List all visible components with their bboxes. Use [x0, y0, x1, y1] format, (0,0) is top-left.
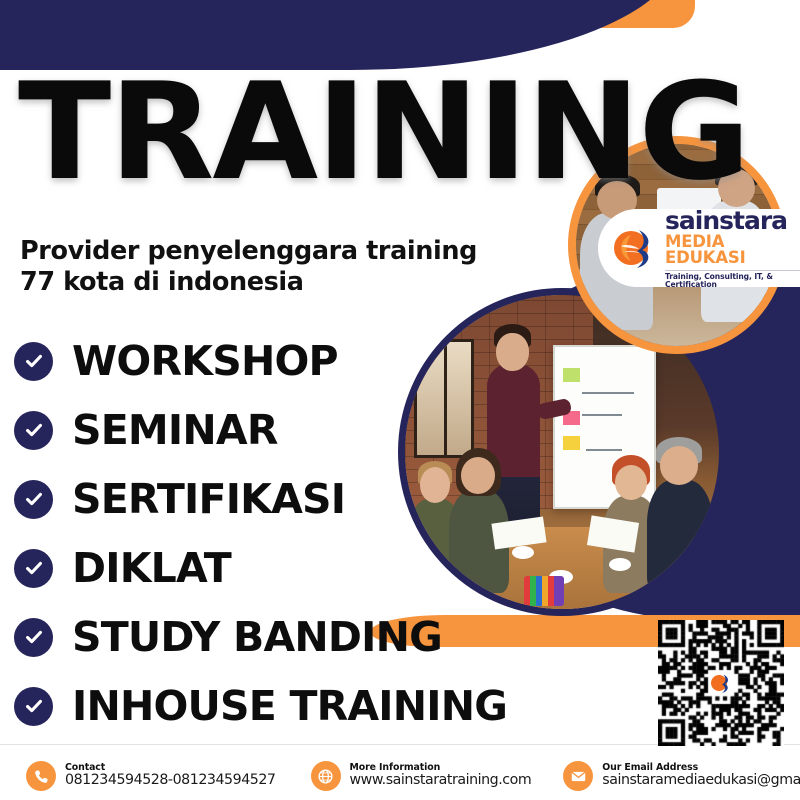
service-label: INHOUSE TRAINING [72, 682, 507, 730]
list-item: WORKSHOP [14, 330, 507, 392]
footer-item-contact[interactable]: Contact 081234594528-081234594527 [26, 761, 276, 791]
footer-contact-bar: Contact 081234594528-081234594527 More I… [0, 752, 800, 800]
service-label: DIKLAT [72, 544, 231, 592]
service-label: SERTIFIKASI [72, 475, 345, 523]
training-poster: TRAINING Provider penyelenggara training… [0, 0, 800, 800]
footer-email-value: sainstaramediaedukasi@gmail.com [602, 773, 800, 789]
qr-code[interactable] [658, 620, 784, 746]
check-circle-icon [14, 342, 53, 381]
envelope-icon [563, 761, 593, 791]
footer-website-value: www.sainstaratraining.com [350, 773, 532, 789]
list-item: INHOUSE TRAINING [14, 675, 507, 737]
check-circle-icon [14, 480, 53, 519]
list-item: SEMINAR [14, 399, 507, 461]
footer-item-website[interactable]: More Information www.sainstaratraining.c… [311, 761, 532, 791]
flame-swoosh-icon [608, 222, 660, 274]
phone-icon [26, 761, 56, 791]
poster-title: TRAINING [18, 78, 749, 188]
list-item: SERTIFIKASI [14, 468, 507, 530]
check-circle-icon [14, 549, 53, 588]
poster-subtitle: Provider penyelenggara training 77 kota … [20, 236, 520, 298]
services-list: WORKSHOP SEMINAR SERTIFIKASI [14, 330, 507, 744]
footer-phone-value: 081234594528-081234594527 [65, 773, 276, 789]
logo-tagline: Training, Consulting, IT, & Certificatio… [665, 270, 800, 288]
check-circle-icon [14, 618, 53, 657]
check-circle-icon [14, 411, 53, 450]
service-label: WORKSHOP [72, 337, 338, 385]
brand-logo-card: sainstara MEDIA EDUKASI Training, Consul… [598, 209, 800, 287]
qr-center-logo-icon [708, 670, 734, 696]
service-label: SEMINAR [72, 406, 278, 454]
list-item: DIKLAT [14, 537, 507, 599]
logo-name: sainstara [665, 208, 800, 233]
logo-subtitle: MEDIA EDUKASI [665, 234, 800, 267]
globe-icon [311, 761, 341, 791]
check-circle-icon [14, 687, 53, 726]
footer-item-email[interactable]: Our Email Address sainstaramediaedukasi@… [563, 761, 800, 791]
service-label: STUDY BANDING [72, 613, 442, 661]
page-title: TRAINING [18, 78, 734, 188]
list-item: STUDY BANDING [14, 606, 507, 668]
